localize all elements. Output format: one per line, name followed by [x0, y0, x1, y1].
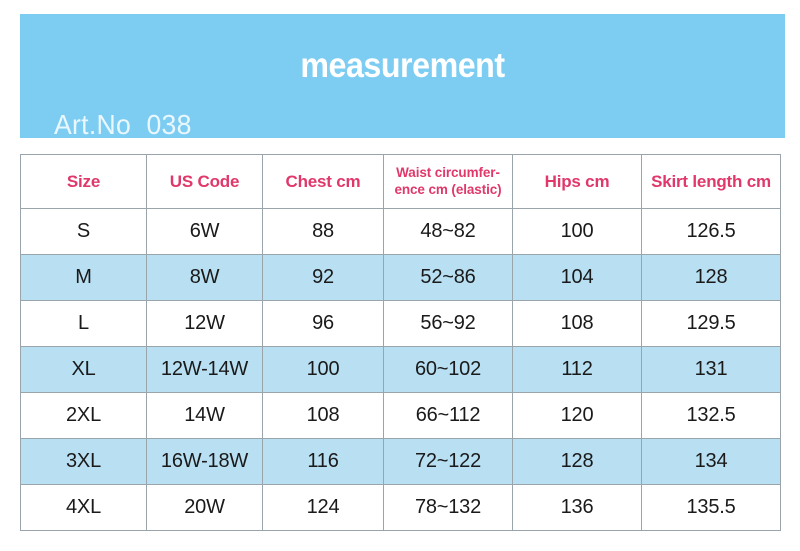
table-body: S 6W 88 48~82 100 126.5 M 8W 92 52~86 10… — [21, 209, 781, 531]
table-row: S 6W 88 48~82 100 126.5 — [21, 209, 781, 255]
cell-waist: 60~102 — [384, 347, 513, 393]
cell-size: XL — [21, 347, 147, 393]
column-header-chest: Chest cm — [263, 155, 384, 209]
cell-hips: 104 — [513, 255, 642, 301]
cell-skirt-length: 134 — [642, 439, 781, 485]
cell-hips: 100 — [513, 209, 642, 255]
column-header-size: Size — [21, 155, 147, 209]
size-table: Size US Code Chest cm Waist circumfer- e… — [20, 154, 781, 531]
table-row: 4XL 20W 124 78~132 136 135.5 — [21, 485, 781, 531]
cell-skirt-length: 128 — [642, 255, 781, 301]
cell-us-code: 16W-18W — [147, 439, 263, 485]
cell-waist: 66~112 — [384, 393, 513, 439]
cell-size: 3XL — [21, 439, 147, 485]
column-header-skirt-length: Skirt length cm — [642, 155, 781, 209]
table-row: 3XL 16W-18W 116 72~122 128 134 — [21, 439, 781, 485]
column-header-us-code: US Code — [147, 155, 263, 209]
column-header-waist-line2: ence cm (elastic) — [394, 182, 501, 197]
cell-size: L — [21, 301, 147, 347]
cell-skirt-length: 126.5 — [642, 209, 781, 255]
header-banner: measurement Art.No 038 — [20, 14, 785, 138]
cell-chest: 100 — [263, 347, 384, 393]
cell-waist: 78~132 — [384, 485, 513, 531]
table-row: XL 12W-14W 100 60~102 112 131 — [21, 347, 781, 393]
cell-hips: 108 — [513, 301, 642, 347]
cell-hips: 128 — [513, 439, 642, 485]
cell-skirt-length: 129.5 — [642, 301, 781, 347]
column-header-hips: Hips cm — [513, 155, 642, 209]
column-header-waist-line1: Waist circumfer- — [396, 165, 500, 180]
table-row: 2XL 14W 108 66~112 120 132.5 — [21, 393, 781, 439]
cell-size: S — [21, 209, 147, 255]
size-table-container: Size US Code Chest cm Waist circumfer- e… — [20, 154, 780, 531]
cell-chest: 96 — [263, 301, 384, 347]
cell-waist: 56~92 — [384, 301, 513, 347]
cell-chest: 108 — [263, 393, 384, 439]
cell-us-code: 20W — [147, 485, 263, 531]
cell-size: 2XL — [21, 393, 147, 439]
article-number: Art.No 038 — [54, 111, 192, 139]
cell-hips: 120 — [513, 393, 642, 439]
cell-hips: 136 — [513, 485, 642, 531]
cell-skirt-length: 135.5 — [642, 485, 781, 531]
table-header: Size US Code Chest cm Waist circumfer- e… — [21, 155, 781, 209]
cell-skirt-length: 131 — [642, 347, 781, 393]
cell-us-code: 8W — [147, 255, 263, 301]
cell-waist: 48~82 — [384, 209, 513, 255]
cell-chest: 116 — [263, 439, 384, 485]
cell-waist: 72~122 — [384, 439, 513, 485]
cell-waist: 52~86 — [384, 255, 513, 301]
cell-us-code: 14W — [147, 393, 263, 439]
cell-size: M — [21, 255, 147, 301]
cell-us-code: 12W-14W — [147, 347, 263, 393]
cell-us-code: 6W — [147, 209, 263, 255]
table-row: M 8W 92 52~86 104 128 — [21, 255, 781, 301]
measurement-size-chart: measurement Art.No 038 Size US Code Ches… — [0, 0, 800, 551]
cell-chest: 124 — [263, 485, 384, 531]
cell-chest: 88 — [263, 209, 384, 255]
cell-size: 4XL — [21, 485, 147, 531]
cell-hips: 112 — [513, 347, 642, 393]
cell-skirt-length: 132.5 — [642, 393, 781, 439]
table-header-row: Size US Code Chest cm Waist circumfer- e… — [21, 155, 781, 209]
page-title: measurement — [51, 48, 755, 83]
column-header-waist: Waist circumfer- ence cm (elastic) — [384, 155, 513, 209]
cell-chest: 92 — [263, 255, 384, 301]
table-row: L 12W 96 56~92 108 129.5 — [21, 301, 781, 347]
cell-us-code: 12W — [147, 301, 263, 347]
